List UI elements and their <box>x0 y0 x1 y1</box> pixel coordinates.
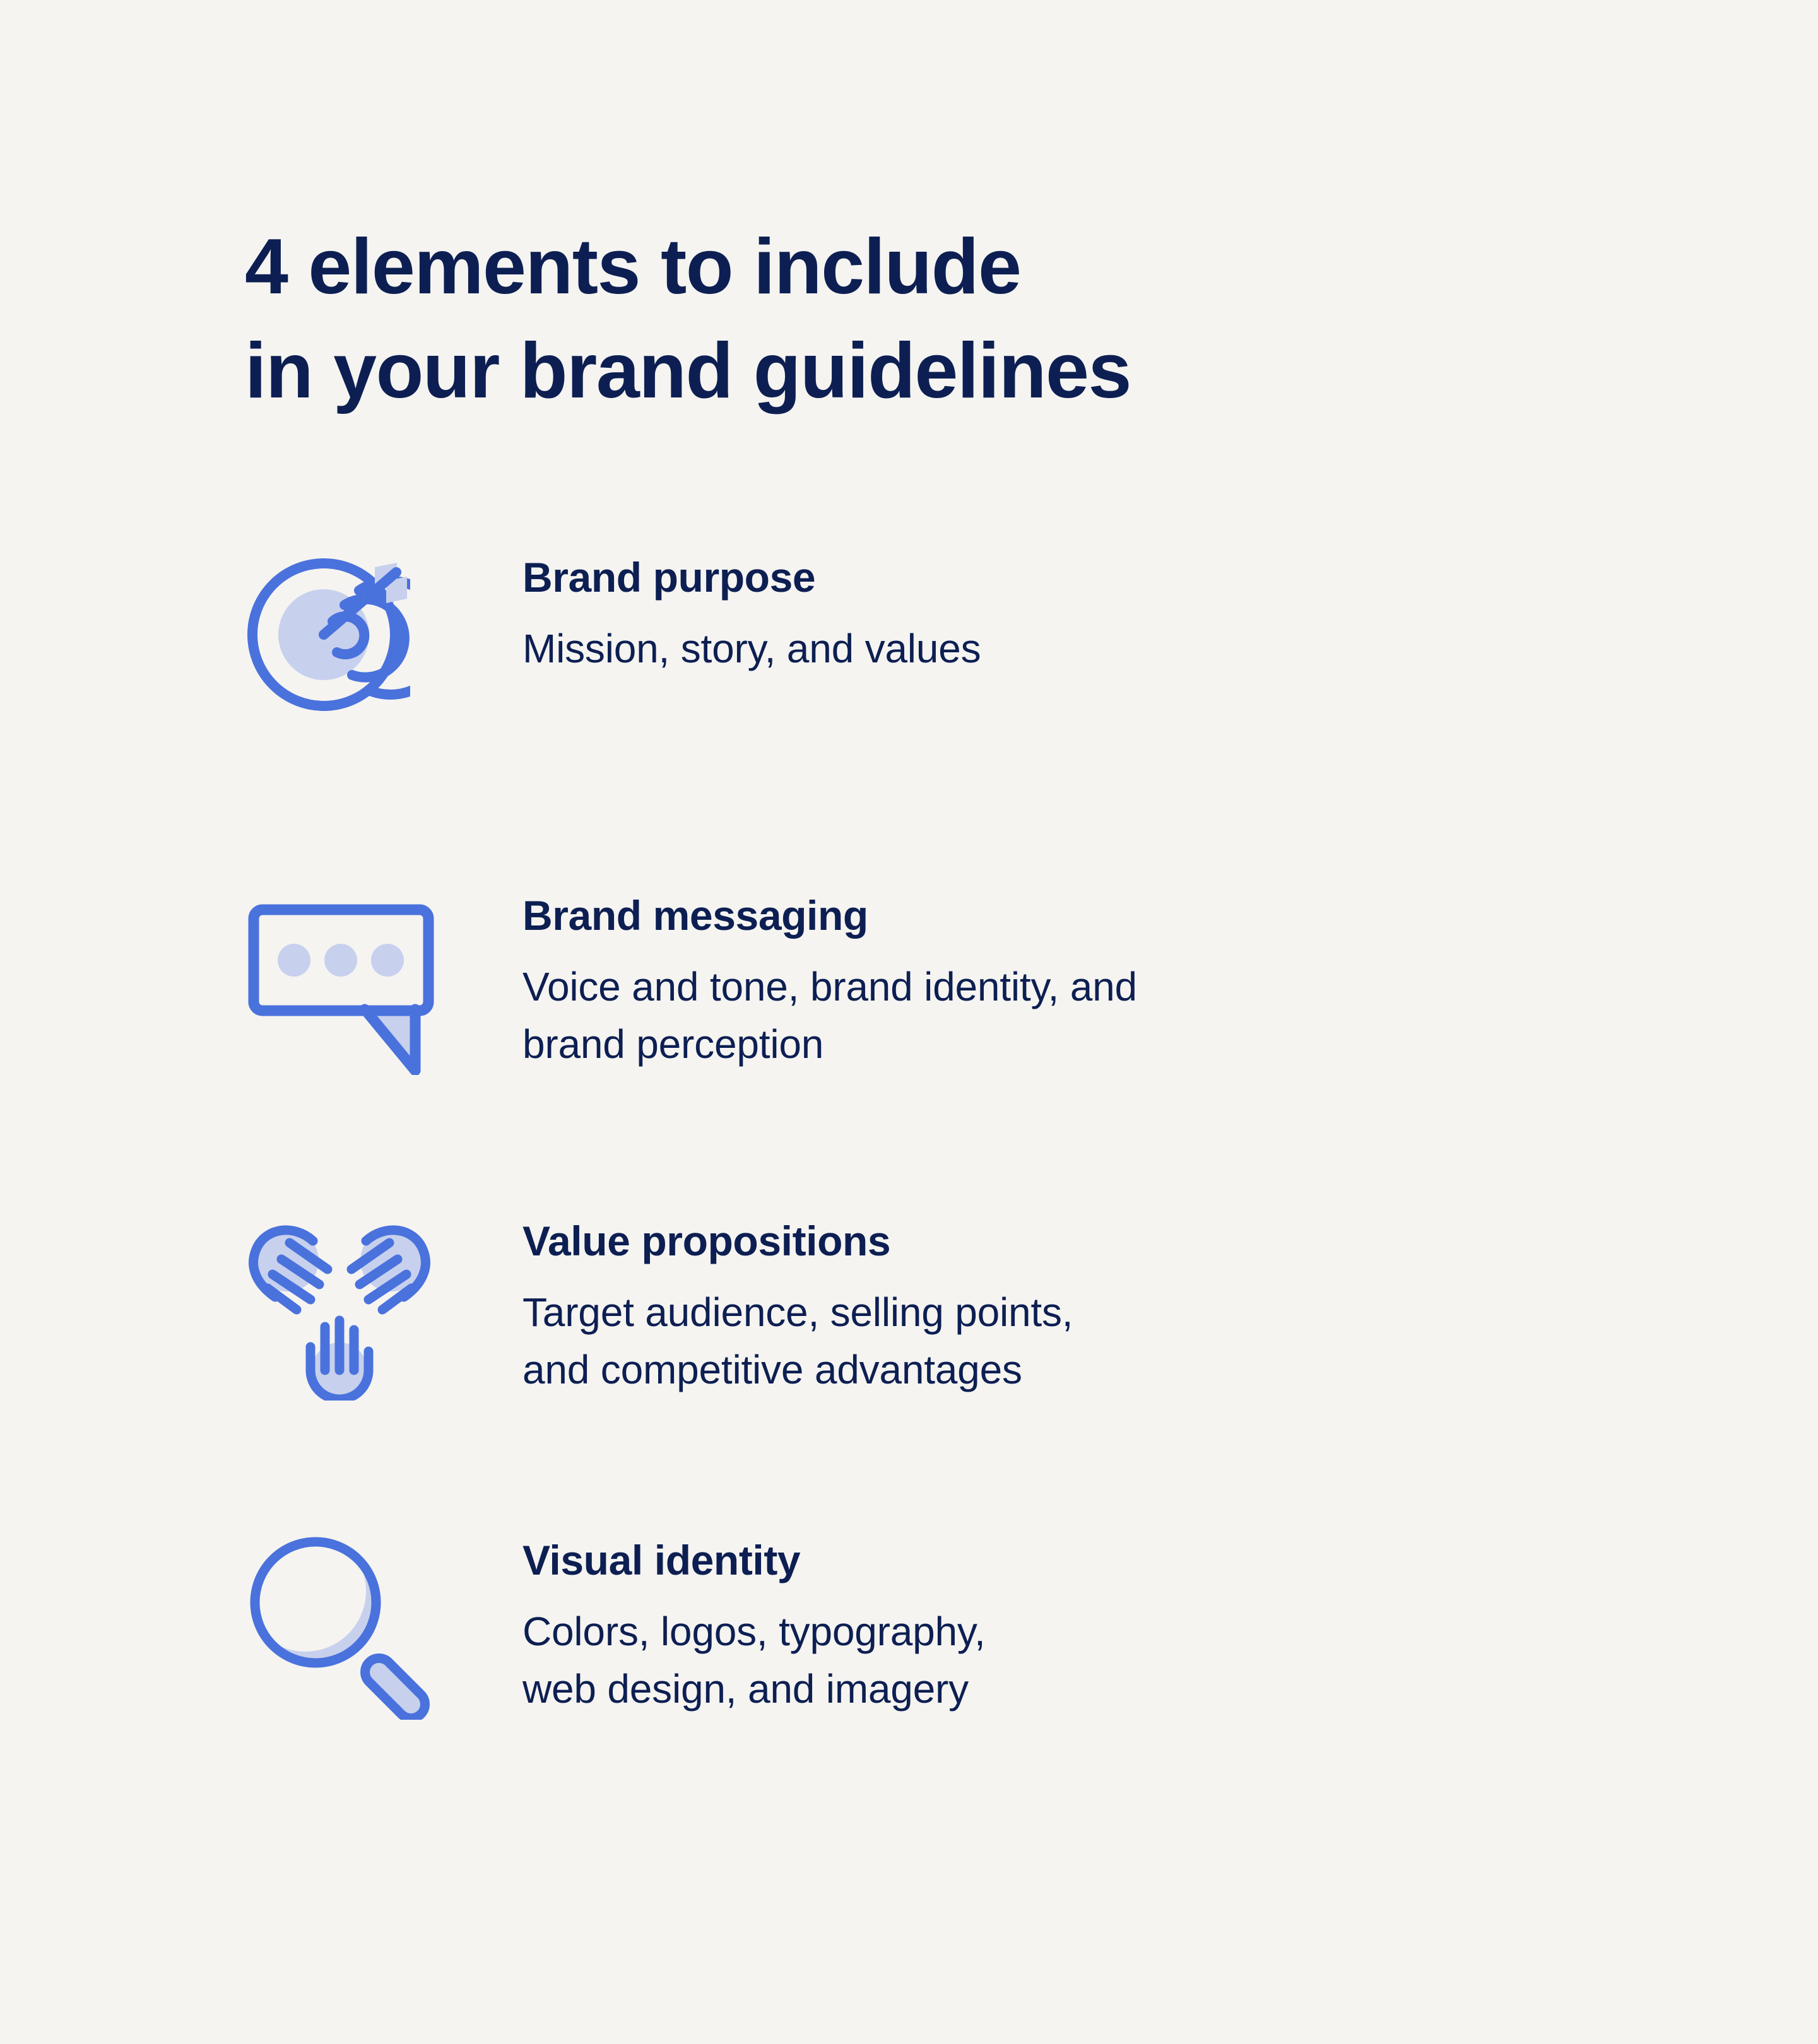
list-item-text: Visual identity Colors, logos, typograph… <box>434 1530 986 1718</box>
page-title: 4 elements to include in your brand guid… <box>245 215 1570 423</box>
list-item-description-line-1: Target audience, selling points, <box>522 1284 1073 1341</box>
list-item-text: Brand purpose Mission, story, and values <box>434 548 981 678</box>
raised-hands-icon-wrapper <box>245 1211 434 1401</box>
speech-bubble-icon <box>245 886 434 1075</box>
list-item-description: Voice and tone, brand identity, and bran… <box>522 958 1137 1073</box>
speech-dot <box>371 944 404 977</box>
target-icon-wrapper <box>245 548 434 737</box>
raised-hands-icon <box>245 1211 434 1401</box>
speech-bubble-icon-wrapper <box>245 886 434 1075</box>
list-item-text: Value propositions Target audience, sell… <box>434 1211 1073 1399</box>
target-icon <box>245 548 410 713</box>
list-item: Brand messaging Voice and tone, brand id… <box>0 886 1818 1075</box>
list-item-text: Brand messaging Voice and tone, brand id… <box>434 886 1137 1073</box>
page-title-line-2: in your brand guidelines <box>245 319 1570 423</box>
list-item-description-line-1: Voice and tone, brand identity, and <box>522 958 1137 1016</box>
list-item-description-line-2: brand perception <box>522 1016 1137 1073</box>
list-item-description: Colors, logos, typography, web design, a… <box>522 1603 986 1718</box>
list-item: Brand purpose Mission, story, and values <box>0 548 1818 737</box>
magnifying-glass-icon <box>245 1530 434 1720</box>
list-item-heading: Visual identity <box>522 1536 986 1585</box>
list-item-description-line-2: web design, and imagery <box>522 1660 986 1718</box>
magnifier-handle <box>359 1652 430 1720</box>
list-item-description-line-2: and competitive advantages <box>522 1341 1073 1399</box>
list-item-description-line-1: Mission, story, and values <box>522 620 981 678</box>
infographic-page: 4 elements to include in your brand guid… <box>0 0 1818 2044</box>
speech-dot <box>324 944 357 977</box>
hand-left <box>245 1214 331 1310</box>
magnifying-glass-icon-wrapper <box>245 1530 434 1720</box>
list-item-heading: Value propositions <box>522 1216 1073 1266</box>
list-item: Visual identity Colors, logos, typograph… <box>0 1530 1818 1720</box>
list-item-heading: Brand purpose <box>522 553 981 602</box>
hand-right <box>348 1214 434 1310</box>
page-title-line-1: 4 elements to include <box>245 215 1570 319</box>
hand-center <box>310 1320 369 1399</box>
list-item-description-line-1: Colors, logos, typography, <box>522 1603 986 1660</box>
list-item-description: Target audience, selling points, and com… <box>522 1284 1073 1399</box>
list-item-description: Mission, story, and values <box>522 620 981 678</box>
elements-list: Brand purpose Mission, story, and values <box>0 548 1818 1720</box>
list-item-heading: Brand messaging <box>522 891 1137 941</box>
speech-dot <box>278 944 310 977</box>
list-item: Value propositions Target audience, sell… <box>0 1211 1818 1401</box>
